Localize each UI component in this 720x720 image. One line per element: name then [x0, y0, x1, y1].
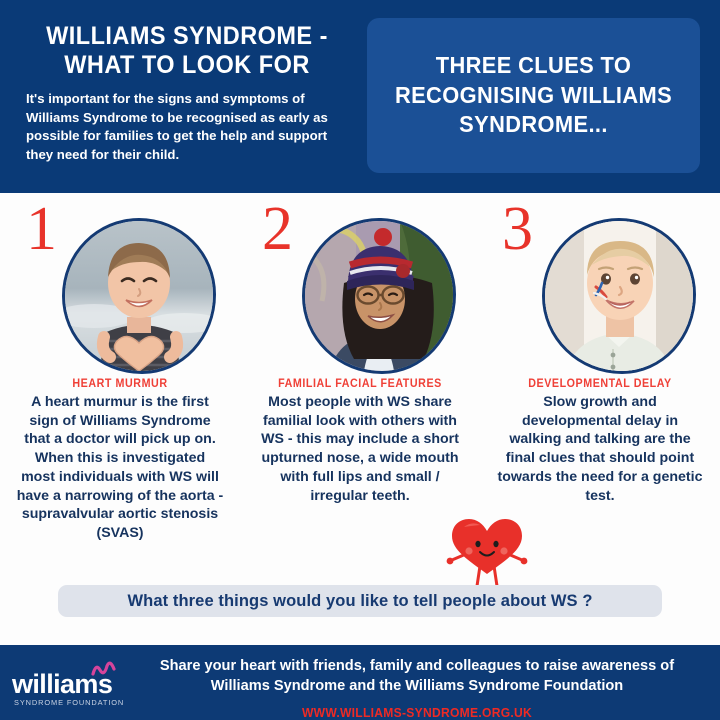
footer-message: Share your heart with friends, family an… [132, 657, 702, 697]
header-subtitle: It's important for the signs and symptom… [22, 90, 352, 165]
footer-url[interactable]: WWW.WILLIAMS-SYNDROME.ORG.UK [152, 705, 682, 720]
clue-photo-2 [302, 218, 456, 374]
clue-photo-1 [62, 218, 216, 374]
question-text: What three things would you like to tell… [127, 592, 592, 611]
question-banner: What three things would you like to tell… [58, 585, 662, 617]
three-clues-title: THREE CLUES TO RECOGNISING WILLIAMS SYND… [375, 51, 691, 139]
clue-number-3: 3 [502, 198, 533, 260]
heart-mascot-icon [438, 512, 538, 594]
three-clues-box: THREE CLUES TO RECOGNISING WILLIAMS SYND… [367, 18, 700, 173]
clue-2-label: FAMILIAL FACIAL FEATURES [248, 378, 471, 390]
clue-1-text: A heart murmur is the first sign of Will… [0, 393, 240, 543]
header-banner: WILLIAMS SYNDROME - WHAT TO LOOK FOR It'… [0, 0, 720, 193]
infographic-poster: WILLIAMS SYNDROME - WHAT TO LOOK FOR It'… [0, 0, 720, 720]
page-title: WILLIAMS SYNDROME - WHAT TO LOOK FOR [32, 22, 342, 80]
clue-column-1: 1 [0, 196, 240, 581]
clue-photo-3 [542, 218, 696, 374]
footer-banner: williams SYNDROME FOUNDATION Share your … [0, 645, 720, 720]
clue-2-media: 2 [240, 196, 480, 378]
clues-columns: 1 [0, 196, 720, 581]
clue-3-text: Slow growth and developmental delay in w… [480, 393, 720, 505]
cartoon-heart-character-icon [438, 512, 538, 594]
williams-syndrome-foundation-logo: williams SYNDROME FOUNDATION [12, 663, 130, 711]
boy-heart-hands-photo [65, 221, 213, 371]
clue-3-media: 3 [480, 196, 720, 378]
logo-tagline: SYNDROME FOUNDATION [14, 699, 124, 706]
woman-bobble-hat-photo [305, 221, 453, 371]
header-left-block: WILLIAMS SYNDROME - WHAT TO LOOK FOR It'… [22, 22, 352, 165]
clue-3-label: DEVELOPMENTAL DELAY [488, 378, 711, 390]
logo-wordmark: williams [12, 671, 112, 698]
toddler-face-paint-photo [545, 221, 693, 371]
clue-number-2: 2 [262, 198, 293, 260]
clue-2-text: Most people with WS share familial look … [240, 393, 480, 505]
clue-number-1: 1 [26, 198, 57, 260]
clue-1-media: 1 [0, 196, 240, 378]
clue-1-label: HEART MURMUR [8, 378, 231, 390]
